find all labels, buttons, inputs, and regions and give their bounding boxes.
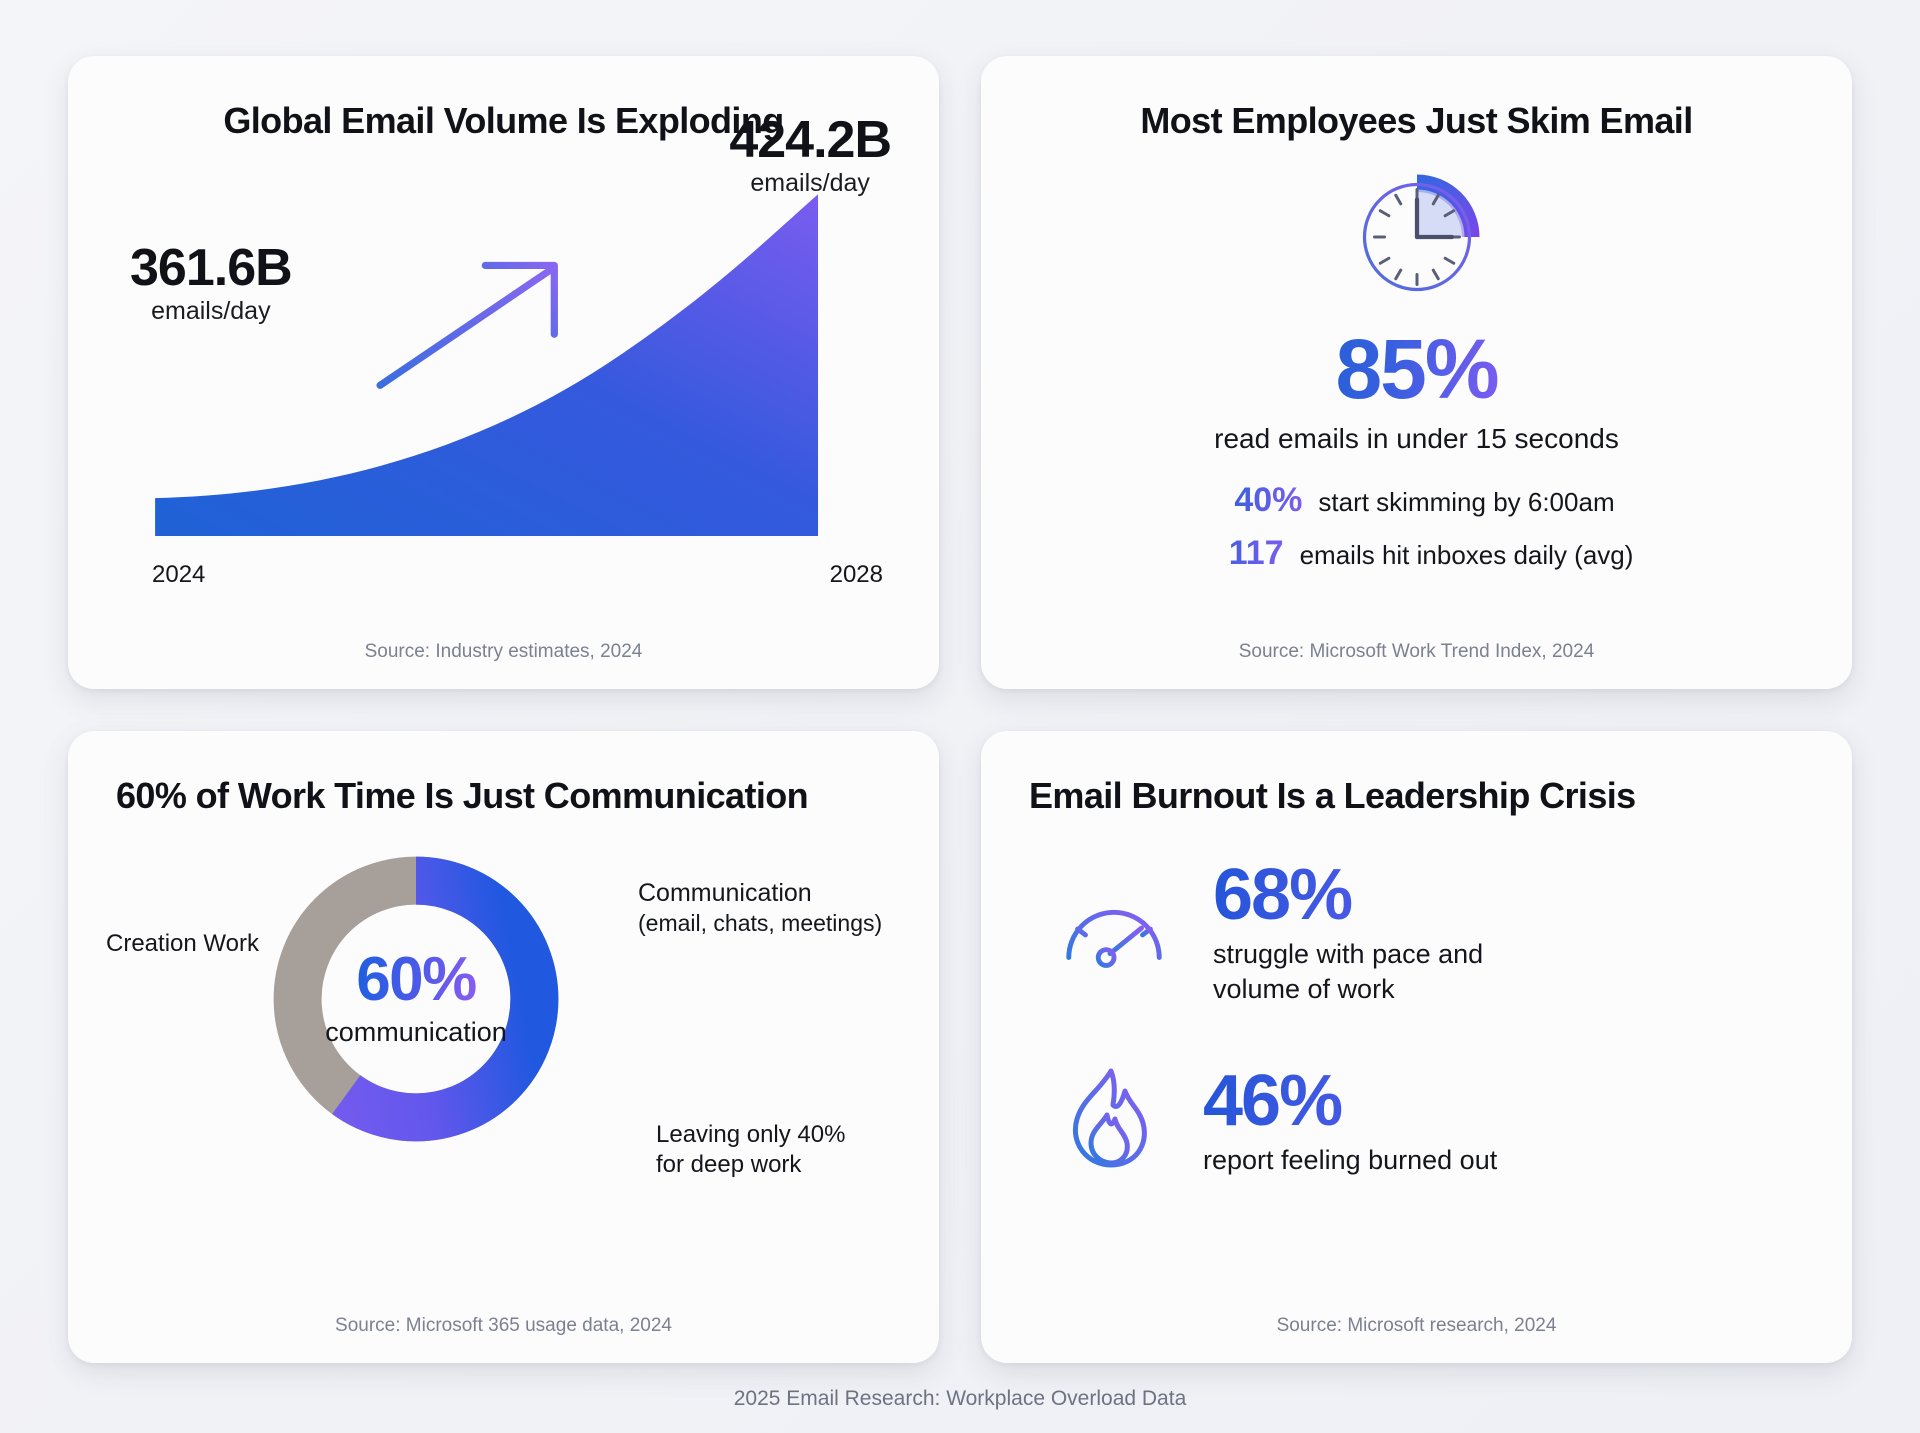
hero-caption-skim: read emails in under 15 seconds <box>1214 423 1619 455</box>
source-time: Source: Microsoft 365 usage data, 2024 <box>68 1315 939 1363</box>
page-title-time: 60% of Work Time Is Just Communication <box>68 731 939 817</box>
footer-caption: 2025 Email Research: Workplace Overload … <box>68 1363 1852 1433</box>
gauge-hub <box>1098 950 1114 966</box>
start-value: 361.6B <box>130 242 292 295</box>
list-item: 117 emails hit inboxes daily (avg) <box>1200 534 1634 573</box>
list-item: 40% start skimming by 6:00am <box>1218 481 1614 520</box>
donut-label-communication: Communication (email, chats, meetings) <box>638 877 882 938</box>
donut-label-communication-sub: (email, chats, meetings) <box>638 909 882 938</box>
donut-label-deep-work: Leaving only 40% for deep work <box>656 1120 845 1181</box>
axis-label-start: 2024 <box>152 561 205 589</box>
infographic-root: Global Email Volume Is Exploding <box>0 0 1920 1433</box>
end-value: 424.2B <box>729 114 891 167</box>
page-title-skim: Most Employees Just Skim Email <box>981 56 1852 142</box>
skim-body: 85% read emails in under 15 seconds 40% … <box>981 142 1852 641</box>
card-grid: Global Email Volume Is Exploding <box>68 56 1852 1363</box>
stat-text: start skimming by 6:00am <box>1318 487 1614 518</box>
deep-work-line1: Leaving only 40% <box>656 1120 845 1151</box>
clock-icon-svg <box>1342 162 1492 312</box>
donut-label-creation: Creation Work <box>106 929 259 960</box>
growth-arrow-icon <box>380 265 554 385</box>
end-unit: emails/day <box>729 169 891 198</box>
burnout-percent: 68% <box>1213 859 1483 931</box>
axis-label-end: 2028 <box>830 561 883 589</box>
stat-start-value: 361.6B emails/day <box>130 242 292 326</box>
burnout-desc-line1: report feeling burned out <box>1203 1143 1497 1178</box>
gauge-needle <box>1110 928 1141 954</box>
burnout-stat-text: 46% report feeling burned out <box>1203 1065 1497 1178</box>
donut-label-communication-title: Communication <box>638 877 882 909</box>
card-skim-email: Most Employees Just Skim Email <box>981 56 1852 689</box>
time-body: 60% communication Creation Work Communic… <box>68 817 939 1316</box>
volume-chart-body: 361.6B emails/day 424.2B emails/day 2024… <box>68 142 939 641</box>
card-email-burnout: Email Burnout Is a Leadership Crisis <box>981 731 1852 1364</box>
list-item: 46% report feeling burned out <box>1055 1063 1792 1180</box>
burnout-percent: 46% <box>1203 1065 1497 1137</box>
stat-number: 117 <box>1200 534 1284 573</box>
stat-number: 40% <box>1218 481 1302 520</box>
card-global-email-volume: Global Email Volume Is Exploding <box>68 56 939 689</box>
stat-text: emails hit inboxes daily (avg) <box>1300 540 1634 571</box>
burnout-desc-line1: struggle with pace and <box>1213 937 1483 972</box>
gauge-icon <box>1055 884 1173 981</box>
burnout-body: 68% struggle with pace and volume of wor… <box>981 817 1852 1316</box>
burnout-stat-text: 68% struggle with pace and volume of wor… <box>1213 859 1483 1007</box>
stat-end-value: 424.2B emails/day <box>729 114 891 198</box>
donut-chart <box>256 839 576 1164</box>
card-work-time-communication: 60% of Work Time Is Just Communication <box>68 731 939 1364</box>
clock-icon <box>1342 162 1492 317</box>
source-skim: Source: Microsoft Work Trend Index, 2024 <box>981 641 1852 689</box>
skim-stat-list: 40% start skimming by 6:00am 117 emails … <box>1200 481 1634 573</box>
flame-icon-svg <box>1055 1063 1163 1175</box>
start-unit: emails/day <box>130 297 292 326</box>
gauge-icon-svg <box>1055 884 1173 976</box>
flame-icon <box>1055 1063 1163 1180</box>
source-burnout: Source: Microsoft research, 2024 <box>981 1315 1852 1363</box>
source-volume: Source: Industry estimates, 2024 <box>68 641 939 689</box>
page-title-burnout: Email Burnout Is a Leadership Crisis <box>981 731 1852 817</box>
flame-inner-path <box>1091 1115 1127 1163</box>
donut-chart-svg <box>256 839 576 1159</box>
hero-percent-skim: 85% <box>1335 327 1497 411</box>
list-item: 68% struggle with pace and volume of wor… <box>1055 859 1792 1007</box>
deep-work-line2: for deep work <box>656 1150 845 1181</box>
burnout-desc-line2: volume of work <box>1213 972 1483 1007</box>
